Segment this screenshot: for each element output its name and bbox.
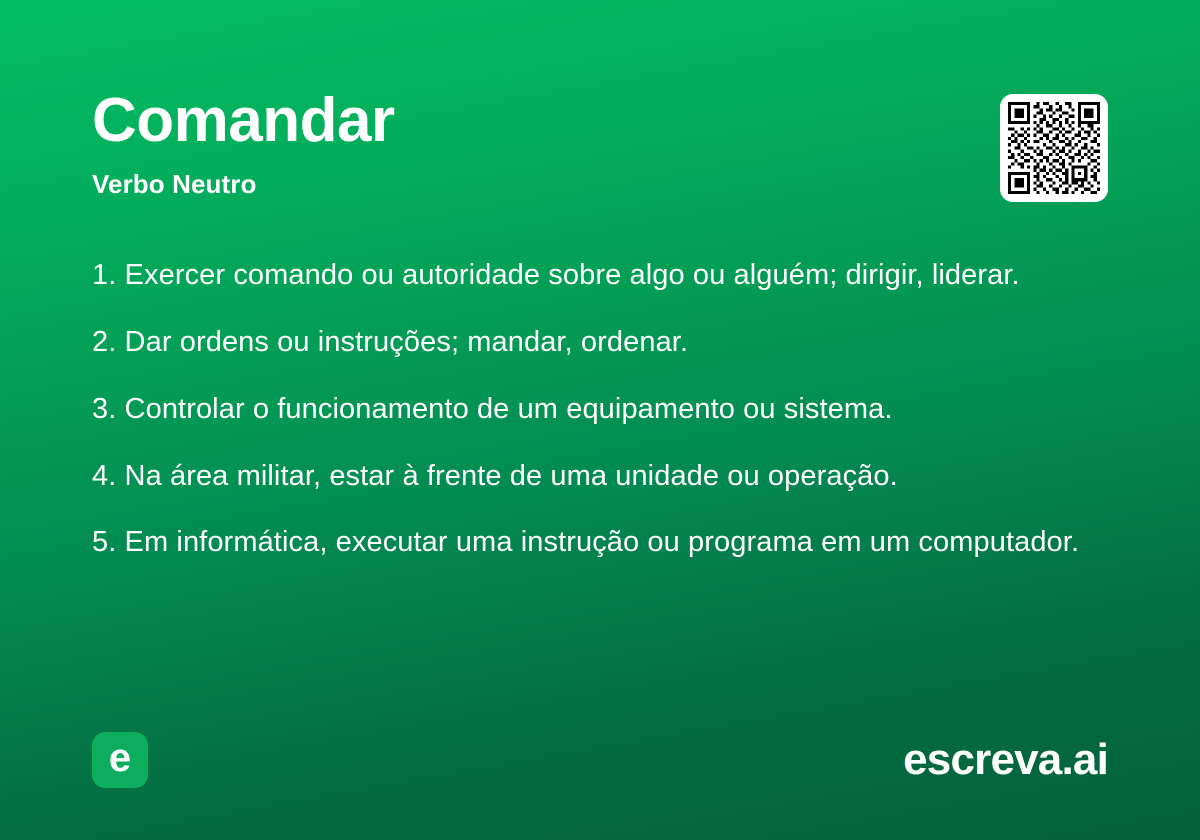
word-class-label: Verbo Neutro bbox=[92, 169, 395, 200]
definition-list: 1. Exercer comando ou autoridade sobre a… bbox=[92, 256, 1102, 562]
word-block: Comandar Verbo Neutro bbox=[92, 88, 395, 200]
definition-card: Comandar Verbo Neutro bbox=[0, 0, 1200, 840]
escreva-logo-icon: e bbox=[92, 732, 148, 788]
definition-item: 1. Exercer comando ou autoridade sobre a… bbox=[92, 256, 1102, 295]
definition-item: 3. Controlar o funcionamento de um equip… bbox=[92, 390, 1102, 429]
card-footer: e escreva.ai bbox=[92, 732, 1108, 788]
card-header: Comandar Verbo Neutro bbox=[92, 88, 1108, 202]
page-title: Comandar bbox=[92, 90, 395, 152]
definition-item: 5. Em informática, executar uma instruçã… bbox=[92, 523, 1102, 562]
brand-wordmark: escreva.ai bbox=[903, 735, 1108, 785]
definition-item: 2. Dar ordens ou instruções; mandar, ord… bbox=[92, 323, 1102, 362]
qr-code-icon[interactable] bbox=[1000, 94, 1108, 202]
definition-item: 4. Na área militar, estar à frente de um… bbox=[92, 457, 1102, 496]
logo-letter: e bbox=[109, 738, 131, 778]
